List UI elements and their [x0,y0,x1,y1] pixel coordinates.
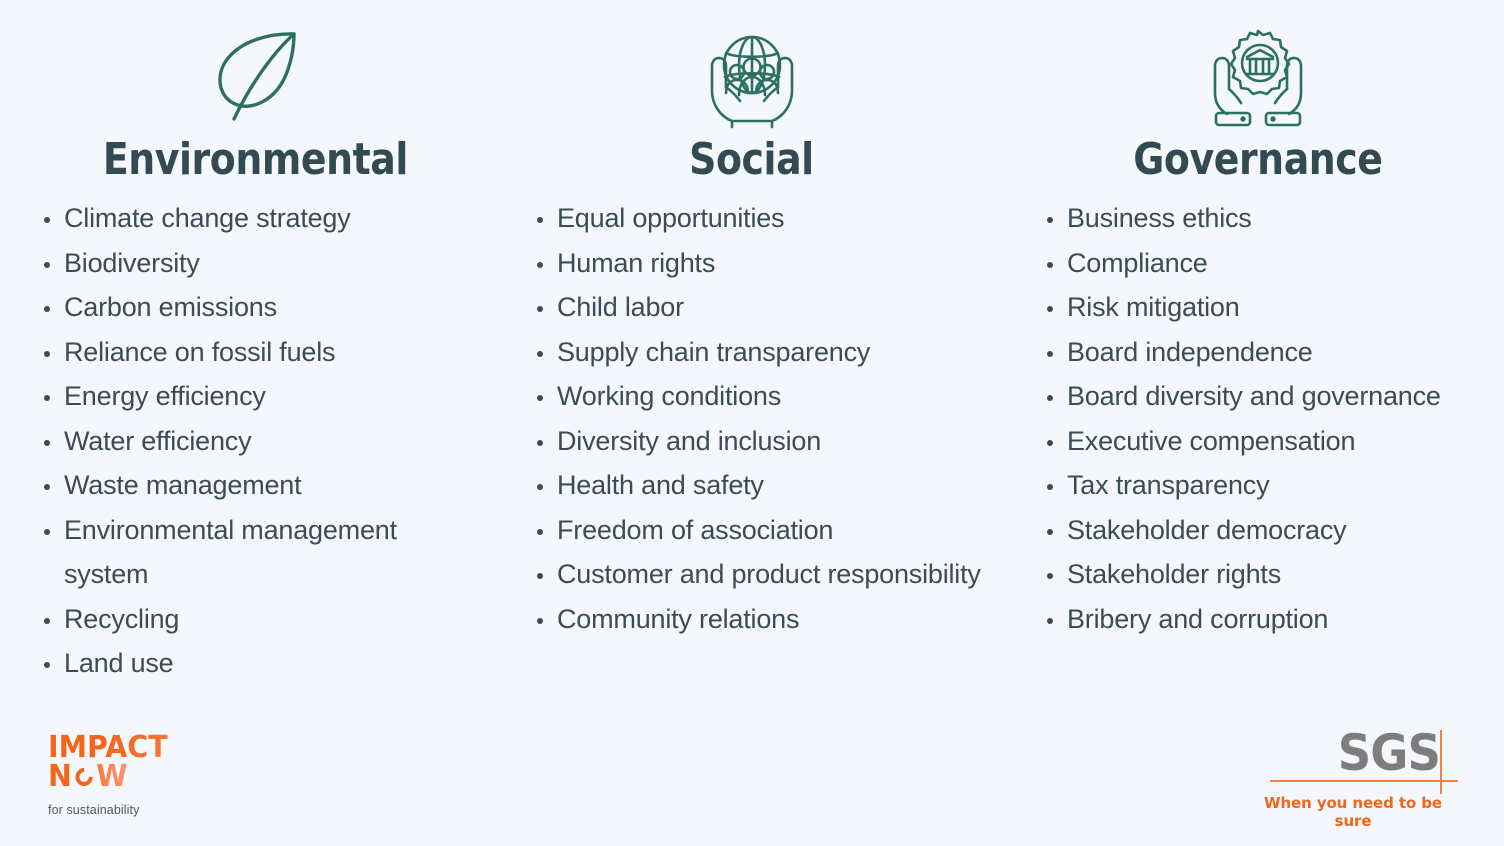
list-item: Child labor [529,285,992,330]
impact-now-logo: IMPACT NOW for sustainability [48,733,308,817]
list-item: Waste management [36,463,481,508]
column-social: Social Equal opportunities Human rights … [501,0,1002,641]
list-item: Reliance on fossil fuels [36,330,481,375]
list-item: Environmental management system [36,508,481,597]
list-item: Supply chain transparency [529,330,992,375]
list-item: Board independence [1039,330,1497,375]
list-item: Bribery and corruption [1039,597,1497,642]
list-governance: Business ethics Compliance Risk mitigati… [1012,196,1503,641]
page-title-social: Social [689,138,814,182]
page-title-environmental: Environmental [103,138,408,182]
list-item: Climate change strategy [36,196,481,241]
list-item: Carbon emissions [36,285,481,330]
list-item: Energy efficiency [36,374,481,419]
list-social: Equal opportunities Human rights Child l… [501,196,1002,641]
list-item: Stakeholder rights [1039,552,1497,597]
column-governance: Governance Business ethics Compliance Ri… [1002,0,1503,641]
list-item: Freedom of association [529,508,992,553]
list-item: Working conditions [529,374,992,419]
list-item: Business ethics [1039,196,1497,241]
sgs-wordmark: SGS [1338,728,1440,778]
impact-logo-n: N [48,759,72,794]
list-item: Compliance [1039,241,1497,286]
impact-logo-line1: IMPACT [48,733,295,762]
column-environmental: Environmental Climate change strategy Bi… [0,0,501,686]
impact-logo-o-ring-icon [72,764,96,789]
list-item: Recycling [36,597,481,642]
esg-pillars-slide: Environmental Climate change strategy Bi… [0,0,1504,846]
impact-logo-w: W [96,759,127,794]
sgs-mark: SGS [1248,728,1458,786]
esg-columns: Environmental Climate change strategy Bi… [0,0,1504,710]
impact-logo-line2: NOW [48,762,128,791]
list-item: Equal opportunities [529,196,992,241]
list-item: Human rights [529,241,992,286]
list-item: Executive compensation [1039,419,1497,464]
sgs-horizontal-rule-icon [1270,780,1458,782]
list-item: Board diversity and governance [1039,374,1497,419]
leaf-icon [206,22,306,132]
page-title-governance: Governance [1133,138,1382,182]
sgs-tagline: When you need to be sure [1248,794,1458,830]
sgs-vertical-rule-icon [1440,730,1442,794]
impact-logo-tagline: for sustainability [48,803,308,817]
list-item: Health and safety [529,463,992,508]
list-item: Diversity and inclusion [529,419,992,464]
list-item: Customer and product responsibility [529,552,992,597]
list-item: Community relations [529,597,992,642]
list-item: Risk mitigation [1039,285,1497,330]
hands-globe-people-icon [703,22,801,132]
list-item: Water efficiency [36,419,481,464]
list-item: Stakeholder democracy [1039,508,1497,553]
list-environmental: Climate change strategy Biodiversity Car… [10,196,501,686]
hands-gear-building-icon [1208,22,1308,132]
list-item: Land use [36,641,481,686]
list-item: Biodiversity [36,241,481,286]
sgs-logo: SGS When you need to be sure [1248,728,1458,818]
list-item: Tax transparency [1039,463,1497,508]
